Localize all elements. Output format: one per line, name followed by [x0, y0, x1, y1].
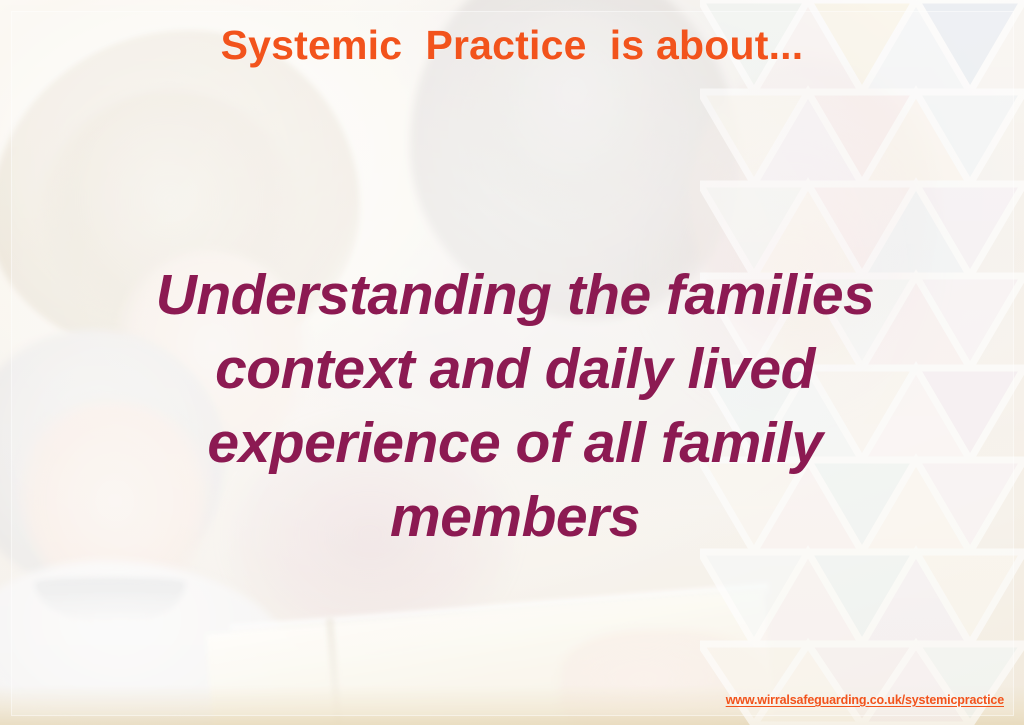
slide-canvas: Systemic Practice is about... Understand…: [0, 0, 1024, 725]
slide-body-text: Understanding the families context and d…: [120, 258, 910, 554]
body-line-4: members: [120, 480, 910, 554]
body-line-1: Understanding the families: [120, 258, 910, 332]
body-line-2: context and daily lived: [120, 332, 910, 406]
footer-website-link[interactable]: www.wirralsafeguarding.co.uk/systemicpra…: [726, 693, 1004, 707]
slide-title: Systemic Practice is about...: [0, 22, 1024, 69]
body-line-3: experience of all family: [120, 406, 910, 480]
